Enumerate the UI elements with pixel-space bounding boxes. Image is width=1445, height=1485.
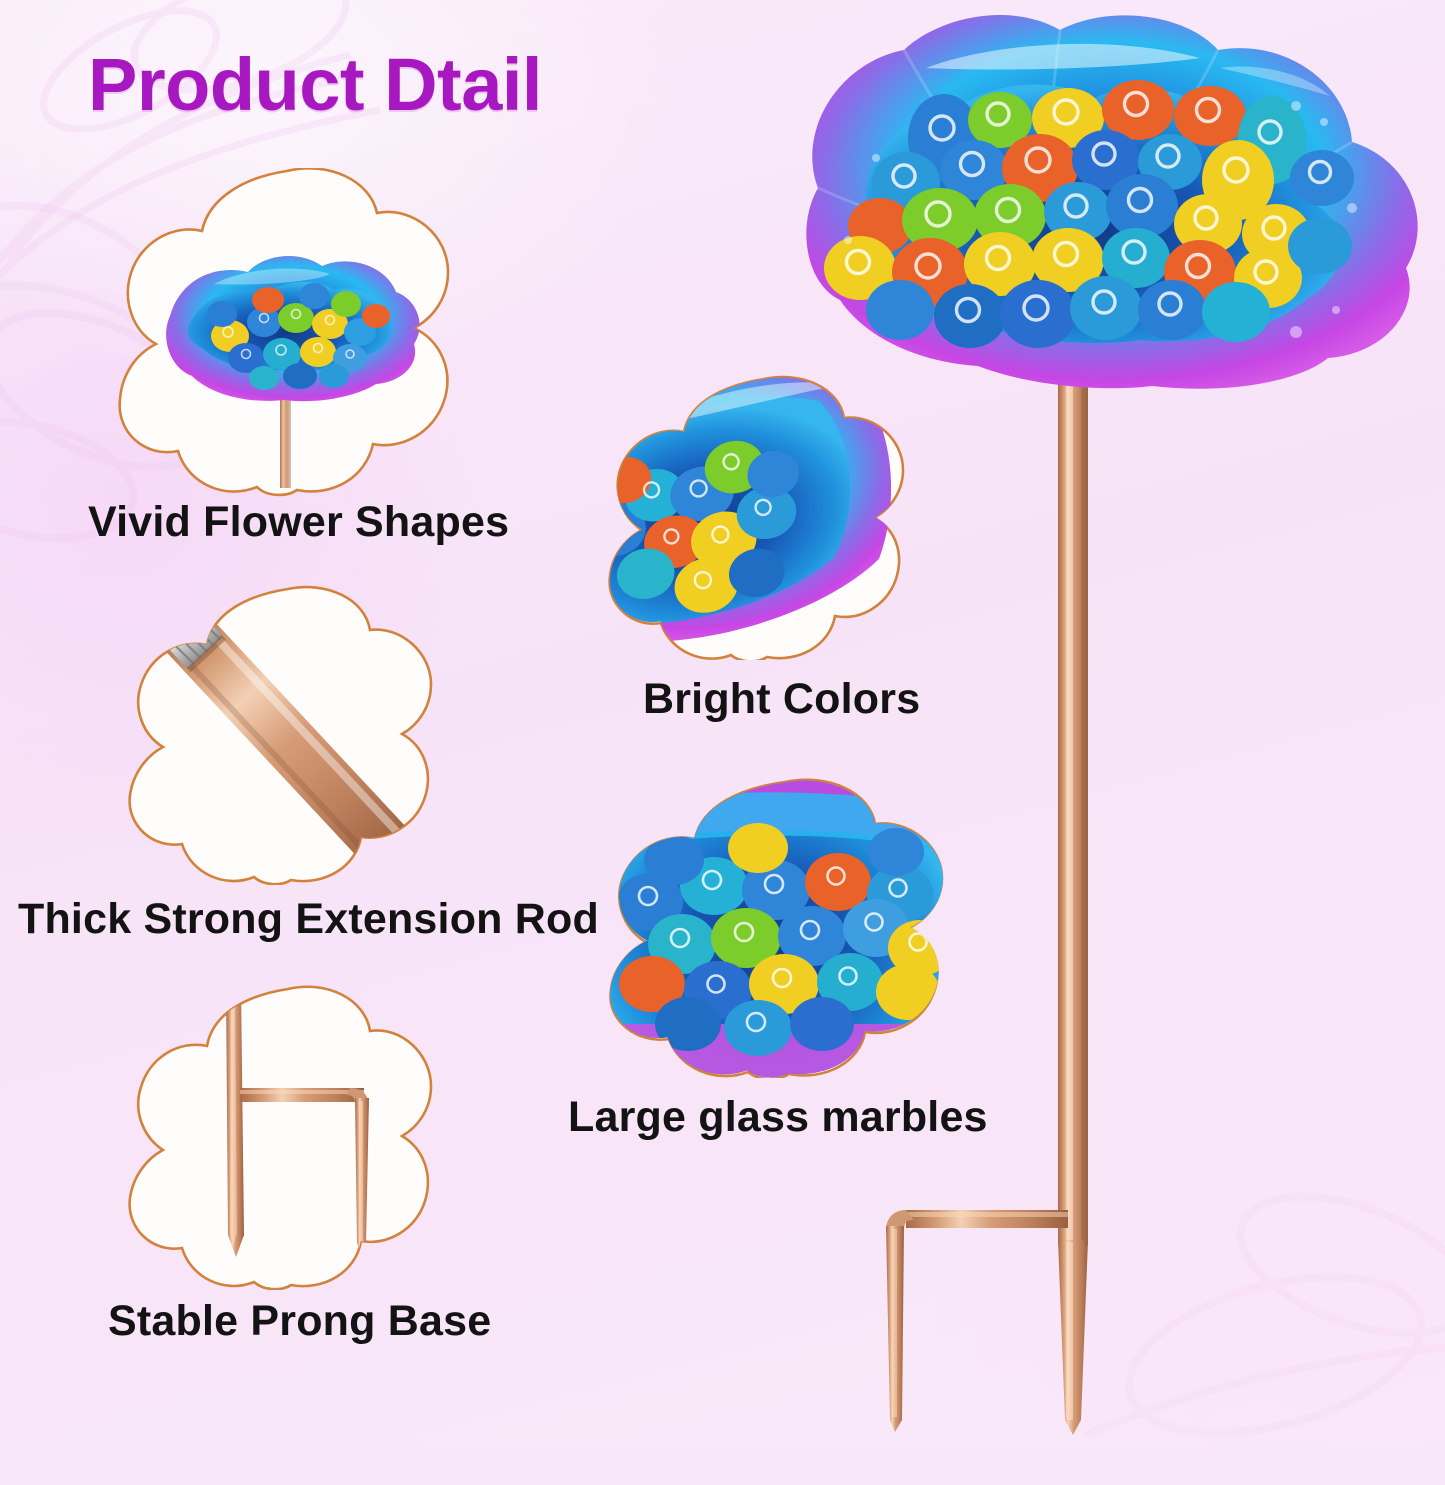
hero-prong-base — [886, 1210, 1088, 1435]
callout-thick-strong-extension-rod: Thick Strong Extension Rod — [128, 585, 436, 885]
callout-stable-prong-base: Stable Prong Base — [128, 985, 436, 1290]
hero-flower-dish — [806, 15, 1417, 389]
page-title: Product Dtail — [88, 48, 542, 122]
hero-product-image — [700, 10, 1445, 1445]
caption-thick-strong-extension-rod: Thick Strong Extension Rod — [18, 895, 599, 944]
hero-rod — [1058, 355, 1088, 1245]
callout-vivid-flower-shapes: Vivid Flower Shapes — [118, 168, 456, 498]
product-detail-page: Product Dtail — [0, 0, 1445, 1445]
prong-base-art — [226, 987, 369, 1257]
caption-vivid-flower-shapes: Vivid Flower Shapes — [88, 498, 509, 547]
caption-stable-prong-base: Stable Prong Base — [108, 1297, 491, 1346]
